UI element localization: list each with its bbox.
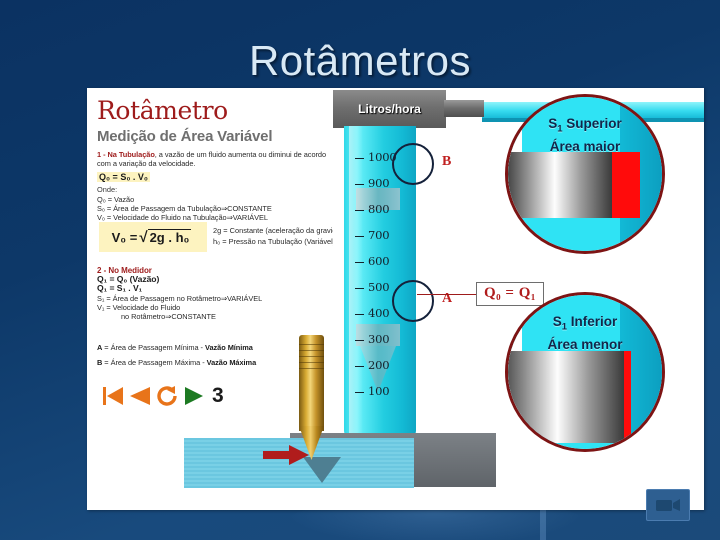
sqrt-note-item: 2g = Constante (aceleração da gravidade) <box>213 225 333 236</box>
probe-ring <box>299 362 324 363</box>
slide-image-panel: Rotâmetro Medição de Área Variável 1 - N… <box>87 88 704 510</box>
magnifier-caption-line1: S1 Inferior <box>508 313 662 336</box>
rewind-icon[interactable] <box>129 384 151 408</box>
scale-tick: 900 <box>355 176 389 190</box>
radicand: 2g . h₀ <box>148 229 192 245</box>
probe-ring <box>299 368 324 369</box>
magnifier-inferior: S1 Inferior Área menor <box>505 292 665 452</box>
media-control-button[interactable] <box>646 489 690 521</box>
magnifier-float-body <box>505 152 612 218</box>
scale-tick: 700 <box>355 228 389 242</box>
magnifier-caption-line1: S1 Superior <box>508 115 662 138</box>
scale-value: 200 <box>368 358 389 372</box>
scale-value: 600 <box>368 254 389 268</box>
navigation-controls[interactable]: 3 <box>101 384 224 408</box>
scale-value: 300 <box>368 332 389 346</box>
magnifier-superior: S1 Superior Área maior <box>505 94 665 254</box>
callout-leader-line <box>417 294 479 295</box>
replay-icon[interactable] <box>155 384 179 408</box>
section-2-line: no Rotâmetro⇒CONSTANTE <box>97 312 337 321</box>
sqrt-lhs: V₀ = <box>112 230 138 245</box>
probe-ring <box>299 350 324 351</box>
definition-item: S₀ = Área de Passagem da Tubulação⇒CONST… <box>97 204 337 213</box>
magnifier-caption-line2: Área maior <box>508 138 662 155</box>
sqrt-equation: V₀ =2g . h₀ <box>112 228 195 246</box>
video-icon[interactable] <box>655 497 681 513</box>
legend-emph: Vazão Mínima <box>205 343 253 352</box>
definitions-list-0: Q₀ = Vazão S₀ = Área de Passagem da Tubu… <box>97 195 337 223</box>
caption-symbol: S <box>548 116 557 131</box>
radical-symbol: 2g . h₀ <box>137 228 194 246</box>
head-connector-pipe <box>444 100 484 117</box>
legend-emph: Vazão Máxima <box>207 358 257 367</box>
scale-tick: 100 <box>355 384 389 398</box>
scale-tick: 1000 <box>355 150 396 164</box>
caption-suffix: Superior <box>563 116 622 131</box>
magnifier-caption-line2: Área menor <box>508 336 662 353</box>
scale-tick: 400 <box>355 306 389 320</box>
scale-tick: 500 <box>355 280 389 294</box>
equation-q0: Q₀ = S₀ . V₀ <box>97 172 337 182</box>
meter-head-block: Litros/hora <box>333 90 446 128</box>
scale-value: 500 <box>368 280 389 294</box>
scale-value: 100 <box>368 384 389 398</box>
magnifier-gap-area <box>624 351 631 443</box>
scale-tick: 800 <box>355 202 389 216</box>
page-number: 3 <box>212 384 224 408</box>
magnifier-caption-superior: S1 Superior Área maior <box>508 97 662 155</box>
section-1-label: 1 - Na Tubulação <box>97 150 155 159</box>
scale-tick: 300 <box>355 332 389 346</box>
definition-item: Q₀ = Vazão <box>97 195 337 204</box>
scale-value: 800 <box>368 202 389 216</box>
caption-suffix: Inferior <box>567 314 617 329</box>
legend-text: = Área de Passagem Mínima - <box>102 343 205 352</box>
sqrt-notes: 2g = Constante (aceleração da gravidade)… <box>213 225 333 247</box>
legend-text: = Área de Passagem Máxima - <box>102 358 206 367</box>
meter-unit-label: Litros/hora <box>358 102 421 116</box>
section-1-paragraph: 1 - Na Tubulação, a vazão de um fluido a… <box>97 150 337 168</box>
scale-tick: 600 <box>355 254 389 268</box>
onde-label: Onde: <box>97 185 337 194</box>
section-2-line: S₁ = Área de Passagem no Rotâmetro⇒VARIÁ… <box>97 294 337 303</box>
section-2-line: V₁ = Velocidade do Fluido <box>97 303 337 312</box>
slide-canvas: Rotâmetros Rotâmetro Medição de Área Var… <box>0 0 720 540</box>
scale-value: 400 <box>368 306 389 320</box>
caption-symbol: S <box>553 314 562 329</box>
magnifier-gap-area <box>612 152 640 218</box>
probe-ring <box>299 356 324 357</box>
section-2-line: Q₁ = S₁ . V₁ <box>97 284 337 293</box>
scale-value: 900 <box>368 176 389 190</box>
equation-q0-text: Q₀ = S₀ . V₀ <box>97 172 150 182</box>
scale-tick: 200 <box>355 358 389 372</box>
magnifier-float-body <box>505 351 624 443</box>
play-icon[interactable] <box>183 384 205 408</box>
document-subheading: Medição de Área Variável <box>97 128 337 145</box>
probe-ring <box>299 344 324 345</box>
magnifier-caption-inferior: S1 Inferior Área menor <box>508 295 662 353</box>
marker-label-b: B <box>442 154 451 170</box>
marker-circle-a <box>392 280 434 322</box>
sqrt-equation-box: V₀ =2g . h₀ <box>99 222 207 252</box>
skip-back-icon[interactable] <box>101 384 125 408</box>
page-title: Rotâmetros <box>0 40 720 82</box>
marker-circle-b <box>392 143 434 185</box>
sqrt-note-item: h₀ = Pressão na Tubulação (Variável) <box>213 236 333 247</box>
background-bar-decoration <box>540 508 546 540</box>
scale-value: 700 <box>368 228 389 242</box>
section-2-block: 2 - No Medidor Q₁ = Q₀ (Vazão) Q₁ = S₁ .… <box>97 266 337 321</box>
flow-arrow-icon <box>263 445 309 465</box>
document-heading: Rotâmetro <box>97 96 337 125</box>
